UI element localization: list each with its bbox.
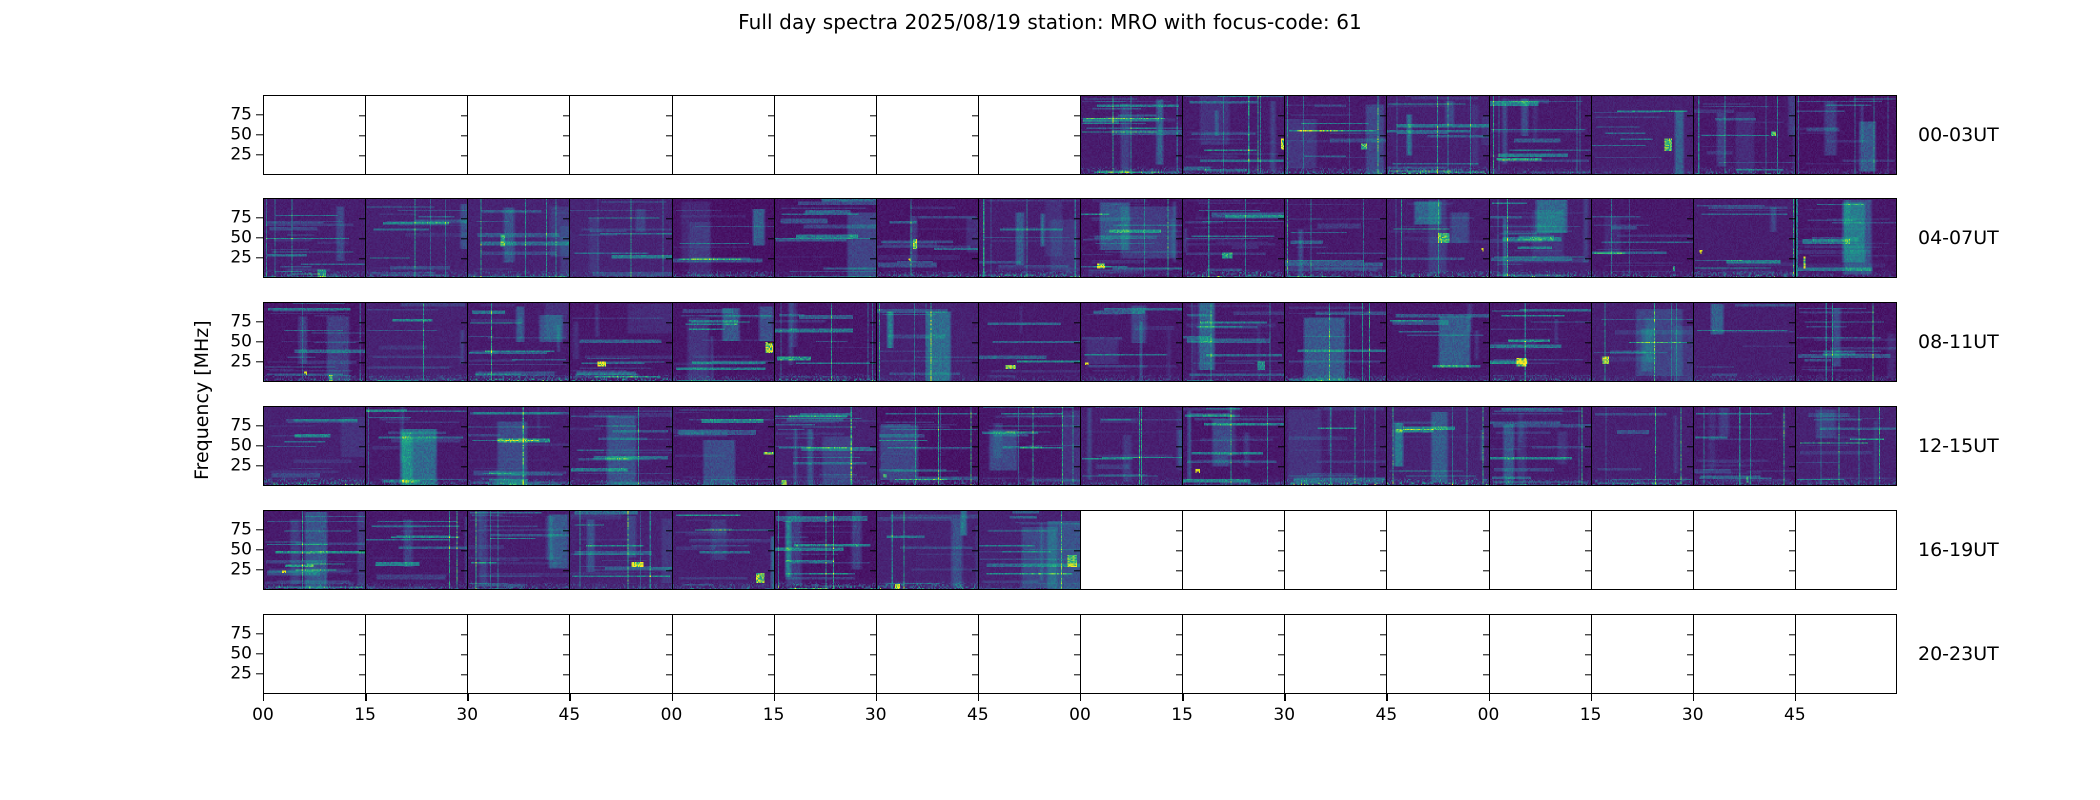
inner-tick-mark — [1074, 634, 1081, 635]
spectrogram-cell[interactable] — [366, 407, 468, 485]
spectrogram-cell[interactable] — [673, 407, 775, 485]
x-tick-mark — [1693, 694, 1694, 701]
inner-tick-mark — [666, 674, 673, 675]
inner-tick-mark — [768, 466, 775, 467]
inner-tick-mark — [1380, 446, 1387, 447]
spectrogram-image — [1285, 96, 1386, 174]
inner-tick-mark — [563, 258, 570, 259]
inner-tick-mark — [1585, 115, 1592, 116]
spectrogram-cell[interactable] — [264, 199, 366, 277]
inner-tick-mark — [563, 218, 570, 219]
spectrogram-cell[interactable] — [1490, 303, 1592, 381]
spectrogram-cell[interactable] — [1387, 303, 1489, 381]
x-tick-label: 15 — [1171, 705, 1193, 725]
inner-tick-mark — [1585, 466, 1592, 467]
inner-tick-mark — [666, 135, 673, 136]
inner-tick-mark — [768, 674, 775, 675]
spectrogram-image — [1387, 199, 1488, 277]
spectrogram-image — [1387, 96, 1488, 174]
inner-tick-mark — [359, 155, 366, 156]
spectrogram-cell[interactable] — [979, 199, 1081, 277]
inner-tick-mark — [666, 342, 673, 343]
spectrogram-cell[interactable] — [1387, 96, 1489, 174]
inner-tick-mark — [1074, 258, 1081, 259]
y-tick-mark — [256, 569, 263, 570]
spectrogram-cell[interactable] — [1183, 199, 1285, 277]
inner-tick-mark — [359, 550, 366, 551]
spectrogram-cell[interactable] — [775, 615, 877, 693]
x-tick-mark — [1080, 694, 1081, 701]
spectrogram-cell[interactable] — [673, 511, 775, 589]
inner-tick-mark — [1380, 466, 1387, 467]
inner-tick-mark — [768, 570, 775, 571]
spectrogram-image — [1387, 407, 1488, 485]
spectrogram-image — [570, 303, 671, 381]
spectrogram-image — [673, 199, 774, 277]
spectrogram-cell[interactable] — [979, 303, 1081, 381]
spectrogram-cell[interactable] — [468, 303, 570, 381]
x-tick-label: 15 — [763, 705, 785, 725]
inner-tick-mark — [1687, 530, 1694, 531]
inner-tick-mark — [1176, 446, 1183, 447]
inner-tick-mark — [870, 634, 877, 635]
inner-tick-mark — [666, 322, 673, 323]
spectrogram-cell[interactable] — [1081, 511, 1183, 589]
inner-tick-mark — [563, 155, 570, 156]
inner-tick-mark — [1687, 155, 1694, 156]
spectrogram-cell[interactable] — [468, 199, 570, 277]
spectrogram-image — [1081, 407, 1182, 485]
x-tick-label: 45 — [1376, 705, 1398, 725]
x-tick-label: 30 — [456, 705, 478, 725]
spectrogram-cell[interactable] — [979, 511, 1081, 589]
inner-tick-mark — [1483, 322, 1490, 323]
spectrogram-image — [1081, 199, 1182, 277]
spectrogram-image — [1490, 407, 1591, 485]
inner-tick-mark — [1278, 115, 1285, 116]
spectrogram-cell[interactable] — [1081, 615, 1183, 693]
spectrogram-cell[interactable] — [1694, 407, 1796, 485]
spectrogram-cell[interactable] — [1285, 511, 1387, 589]
inner-tick-mark — [768, 342, 775, 343]
spectrogram-image — [1081, 303, 1182, 381]
spectrogram-cell[interactable] — [1694, 615, 1796, 693]
inner-tick-mark — [1380, 238, 1387, 239]
spectrogram-cell[interactable] — [1285, 199, 1387, 277]
inner-tick-mark — [1585, 654, 1592, 655]
spectrogram-cell[interactable] — [775, 511, 877, 589]
inner-tick-mark — [1585, 342, 1592, 343]
spectrogram-cell[interactable] — [1081, 407, 1183, 485]
spectrogram-image — [1592, 199, 1693, 277]
spectrogram-cell[interactable] — [877, 407, 979, 485]
spectrogram-cell[interactable] — [1387, 615, 1489, 693]
spectrogram-image — [570, 511, 671, 589]
spectrogram-cell[interactable] — [366, 615, 468, 693]
inner-tick-mark — [563, 634, 570, 635]
inner-tick-mark — [666, 570, 673, 571]
inner-tick-mark — [1176, 426, 1183, 427]
inner-tick-mark — [972, 446, 979, 447]
inner-tick-mark — [870, 550, 877, 551]
spectrogram-cell[interactable] — [366, 96, 468, 174]
inner-tick-mark — [768, 155, 775, 156]
spectrogram-cell[interactable] — [673, 96, 775, 174]
spectrogram-cell[interactable] — [1490, 511, 1592, 589]
inner-tick-mark — [768, 322, 775, 323]
spectrogram-cell[interactable] — [264, 407, 366, 485]
spectrogram-cell[interactable] — [1694, 511, 1796, 589]
y-tick-mark — [256, 549, 263, 550]
inner-tick-mark — [972, 550, 979, 551]
inner-tick-mark — [1789, 218, 1796, 219]
row-plot-area — [263, 614, 1897, 694]
inner-tick-mark — [768, 258, 775, 259]
x-tick-mark — [467, 694, 468, 701]
inner-tick-mark — [1789, 570, 1796, 571]
spectrogram-cell[interactable] — [1796, 615, 1897, 693]
inner-tick-mark — [1074, 362, 1081, 363]
inner-tick-mark — [1483, 342, 1490, 343]
y-tick-mark — [256, 217, 263, 218]
spectrogram-cell[interactable] — [366, 511, 468, 589]
inner-tick-mark — [1278, 550, 1285, 551]
spectrogram-row-04-07ut: 755025 — [263, 198, 1897, 278]
inner-tick-mark — [1483, 135, 1490, 136]
inner-tick-mark — [1380, 634, 1387, 635]
inner-tick-mark — [768, 115, 775, 116]
inner-tick-mark — [666, 530, 673, 531]
spectrogram-cell[interactable] — [877, 199, 979, 277]
spectrogram-cell[interactable] — [1694, 96, 1796, 174]
spectrogram-cell[interactable] — [1081, 96, 1183, 174]
spectrogram-cell[interactable] — [1285, 615, 1387, 693]
inner-tick-mark — [972, 322, 979, 323]
inner-tick-mark — [666, 258, 673, 259]
spectrogram-cell[interactable] — [1490, 615, 1592, 693]
inner-tick-mark — [1380, 342, 1387, 343]
x-tick-label: 00 — [661, 705, 683, 725]
y-tick-mark — [256, 529, 263, 530]
row-time-label-00-03ut: 00-03UT — [1918, 124, 1999, 146]
inner-tick-mark — [1278, 654, 1285, 655]
inner-tick-mark — [666, 634, 673, 635]
inner-tick-mark — [1585, 674, 1592, 675]
row-plot-area — [263, 198, 1897, 278]
x-tick-label: 30 — [1682, 705, 1704, 725]
spectrogram-cell[interactable] — [877, 303, 979, 381]
x-tick-label: 15 — [354, 705, 376, 725]
inner-tick-mark — [359, 446, 366, 447]
spectrogram-image — [1081, 96, 1182, 174]
spectrogram-cell[interactable] — [877, 511, 979, 589]
inner-tick-mark — [1074, 115, 1081, 116]
inner-tick-mark — [972, 530, 979, 531]
spectrogram-cell[interactable] — [1183, 96, 1285, 174]
inner-tick-mark — [666, 466, 673, 467]
spectrogram-cell[interactable] — [673, 199, 775, 277]
inner-tick-mark — [666, 115, 673, 116]
x-tick-mark — [1591, 694, 1592, 701]
inner-tick-mark — [461, 115, 468, 116]
inner-tick-mark — [1074, 446, 1081, 447]
y-tick-mark — [256, 673, 263, 674]
spectrogram-cell[interactable] — [1592, 615, 1694, 693]
spectrogram-cell[interactable] — [673, 615, 775, 693]
inner-tick-mark — [461, 570, 468, 571]
spectrogram-cell[interactable] — [570, 615, 672, 693]
inner-tick-mark — [461, 258, 468, 259]
spectrogram-cell[interactable] — [1490, 199, 1592, 277]
inner-tick-mark — [359, 466, 366, 467]
inner-tick-mark — [1278, 530, 1285, 531]
x-tick-mark — [978, 694, 979, 701]
inner-tick-mark — [1687, 674, 1694, 675]
spectrogram-image — [1183, 96, 1284, 174]
inner-tick-mark — [1789, 550, 1796, 551]
spectrogram-cell[interactable] — [1796, 511, 1897, 589]
spectrogram-cell[interactable] — [979, 96, 1081, 174]
spectrogram-cell[interactable] — [1183, 615, 1285, 693]
spectrogram-cell[interactable] — [366, 199, 468, 277]
spectrogram-cell[interactable] — [264, 615, 366, 693]
spectrogram-cell[interactable] — [673, 303, 775, 381]
inner-tick-mark — [972, 238, 979, 239]
spectrogram-cell[interactable] — [570, 407, 672, 485]
spectrogram-cell[interactable] — [1796, 407, 1897, 485]
inner-tick-mark — [1687, 550, 1694, 551]
spectrogram-cell[interactable] — [775, 96, 877, 174]
spectrogram-cell[interactable] — [775, 199, 877, 277]
spectrogram-cell[interactable] — [468, 407, 570, 485]
spectrogram-row-00-03ut: 755025 — [263, 95, 1897, 175]
spectrogram-cell[interactable] — [1592, 511, 1694, 589]
inner-tick-mark — [1483, 258, 1490, 259]
inner-tick-mark — [359, 258, 366, 259]
inner-tick-mark — [1176, 135, 1183, 136]
inner-tick-mark — [461, 238, 468, 239]
spectrogram-cell[interactable] — [1592, 407, 1694, 485]
spectrogram-image — [1183, 303, 1284, 381]
spectrogram-cell[interactable] — [877, 96, 979, 174]
inner-tick-mark — [359, 530, 366, 531]
spectrogram-cell[interactable] — [264, 303, 366, 381]
inner-tick-mark — [972, 135, 979, 136]
y-tick-mark — [256, 237, 263, 238]
inner-tick-mark — [1074, 135, 1081, 136]
inner-tick-mark — [666, 155, 673, 156]
inner-tick-mark — [1483, 218, 1490, 219]
inner-tick-mark — [870, 258, 877, 259]
x-tick-label: 15 — [1580, 705, 1602, 725]
spectrogram-image — [1796, 407, 1897, 485]
spectrogram-image — [570, 199, 671, 277]
spectrogram-image — [1694, 96, 1795, 174]
inner-tick-mark — [1687, 466, 1694, 467]
inner-tick-mark — [461, 426, 468, 427]
inner-tick-mark — [359, 218, 366, 219]
inner-tick-mark — [1789, 155, 1796, 156]
spectrogram-cell[interactable] — [570, 199, 672, 277]
inner-tick-mark — [1380, 135, 1387, 136]
inner-tick-mark — [666, 218, 673, 219]
inner-tick-mark — [563, 550, 570, 551]
spectrogram-cell[interactable] — [1592, 303, 1694, 381]
spectrogram-cell[interactable] — [570, 511, 672, 589]
spectrogram-cell[interactable] — [1592, 199, 1694, 277]
x-tick-mark — [1386, 694, 1387, 701]
x-tick-mark — [1284, 694, 1285, 701]
spectrogram-cell[interactable] — [1387, 199, 1489, 277]
y-tick-mark — [256, 361, 263, 362]
inner-tick-mark — [1380, 218, 1387, 219]
x-tick-mark — [1795, 694, 1796, 701]
spectrogram-cell[interactable] — [264, 511, 366, 589]
inner-tick-mark — [1483, 570, 1490, 571]
spectrogram-image — [1490, 303, 1591, 381]
spectrogram-cell[interactable] — [1796, 303, 1897, 381]
inner-tick-mark — [870, 466, 877, 467]
spectrogram-cell[interactable] — [1490, 96, 1592, 174]
spectrogram-cell[interactable] — [1183, 511, 1285, 589]
spectrogram-image — [1592, 96, 1693, 174]
spectrogram-cell[interactable] — [570, 303, 672, 381]
inner-tick-mark — [1380, 426, 1387, 427]
y-tick-mark — [256, 425, 263, 426]
inner-tick-mark — [1176, 342, 1183, 343]
x-tick-label: 00 — [252, 705, 274, 725]
y-tick-mark — [256, 653, 263, 654]
spectrogram-cell[interactable] — [775, 407, 877, 485]
spectrogram-cell[interactable] — [366, 303, 468, 381]
spectrogram-image — [1796, 199, 1897, 277]
spectrogram-image — [775, 511, 876, 589]
inner-tick-mark — [870, 238, 877, 239]
x-tick-label: 45 — [1784, 705, 1806, 725]
spectrogram-cell[interactable] — [1387, 511, 1489, 589]
y-axis-label: Frequency [MHz] — [188, 250, 216, 550]
inner-tick-mark — [563, 238, 570, 239]
spectrogram-image — [1796, 303, 1897, 381]
spectrogram-image — [1694, 407, 1795, 485]
inner-tick-mark — [972, 426, 979, 427]
inner-tick-mark — [461, 634, 468, 635]
spectrogram-cell[interactable] — [1694, 303, 1796, 381]
spectrogram-cell[interactable] — [979, 615, 1081, 693]
inner-tick-mark — [1789, 322, 1796, 323]
inner-tick-mark — [1585, 550, 1592, 551]
inner-tick-mark — [1585, 258, 1592, 259]
inner-tick-mark — [1176, 530, 1183, 531]
inner-tick-mark — [359, 322, 366, 323]
inner-tick-mark — [870, 570, 877, 571]
inner-tick-mark — [666, 238, 673, 239]
inner-tick-mark — [870, 426, 877, 427]
inner-tick-mark — [1074, 466, 1081, 467]
spectrogram-cell[interactable] — [1490, 407, 1592, 485]
spectrogram-cell[interactable] — [1285, 96, 1387, 174]
spectrogram-image — [570, 407, 671, 485]
spectrogram-cell[interactable] — [979, 407, 1081, 485]
inner-tick-mark — [972, 674, 979, 675]
inner-tick-mark — [359, 362, 366, 363]
inner-tick-mark — [1074, 674, 1081, 675]
spectrogram-image — [1592, 303, 1693, 381]
inner-tick-mark — [1176, 570, 1183, 571]
inner-tick-mark — [972, 218, 979, 219]
inner-tick-mark — [461, 322, 468, 323]
spectrogram-cell[interactable] — [1694, 199, 1796, 277]
spectrogram-image — [979, 303, 1080, 381]
spectrogram-cell[interactable] — [1081, 199, 1183, 277]
spectrogram-cell[interactable] — [1183, 303, 1285, 381]
inner-tick-mark — [1380, 654, 1387, 655]
inner-tick-mark — [1687, 362, 1694, 363]
row-time-label-04-07ut: 04-07UT — [1918, 227, 1999, 249]
inner-tick-mark — [1278, 426, 1285, 427]
spectrogram-row-12-15ut: 755025 — [263, 406, 1897, 486]
spectrogram-cell[interactable] — [877, 615, 979, 693]
inner-tick-mark — [1789, 115, 1796, 116]
inner-tick-mark — [1483, 115, 1490, 116]
inner-tick-mark — [1278, 238, 1285, 239]
inner-tick-mark — [972, 155, 979, 156]
spectrogram-cell[interactable] — [468, 96, 570, 174]
x-tick-mark — [365, 694, 366, 701]
spectrogram-cell[interactable] — [468, 511, 570, 589]
spectrogram-cell[interactable] — [468, 615, 570, 693]
spectrogram-cell[interactable] — [1387, 407, 1489, 485]
inner-tick-mark — [1176, 550, 1183, 551]
spectrogram-cell[interactable] — [264, 96, 366, 174]
spectrogram-row-16-19ut: 755025 — [263, 510, 1897, 590]
inner-tick-mark — [1278, 570, 1285, 571]
spectrogram-image — [1694, 199, 1795, 277]
spectrogram-cell[interactable] — [1796, 199, 1897, 277]
inner-tick-mark — [1687, 426, 1694, 427]
spectrogram-cell[interactable] — [1081, 303, 1183, 381]
spectrogram-cell[interactable] — [1285, 407, 1387, 485]
spectrogram-image — [877, 199, 978, 277]
spectrogram-image — [775, 407, 876, 485]
spectrogram-image — [468, 407, 569, 485]
spectrogram-image — [264, 303, 365, 381]
inner-tick-mark — [1278, 218, 1285, 219]
inner-tick-mark — [1483, 238, 1490, 239]
inner-tick-mark — [563, 654, 570, 655]
inner-tick-mark — [870, 322, 877, 323]
inner-tick-mark — [461, 155, 468, 156]
inner-tick-mark — [563, 342, 570, 343]
row-plot-area — [263, 95, 1897, 175]
inner-tick-mark — [1380, 570, 1387, 571]
x-tick-mark — [876, 694, 877, 701]
spectrogram-cell[interactable] — [1796, 96, 1897, 174]
inner-tick-mark — [1176, 654, 1183, 655]
x-tick-label: 30 — [1273, 705, 1295, 725]
inner-tick-mark — [1789, 634, 1796, 635]
spectrogram-cell[interactable] — [1592, 96, 1694, 174]
spectrogram-cell[interactable] — [1285, 303, 1387, 381]
inner-tick-mark — [1278, 135, 1285, 136]
spectrogram-cell[interactable] — [775, 303, 877, 381]
inner-tick-mark — [870, 135, 877, 136]
spectrogram-cell[interactable] — [1183, 407, 1285, 485]
inner-tick-mark — [563, 530, 570, 531]
spectrogram-cell[interactable] — [570, 96, 672, 174]
spectrogram-image — [877, 511, 978, 589]
inner-tick-mark — [1380, 362, 1387, 363]
